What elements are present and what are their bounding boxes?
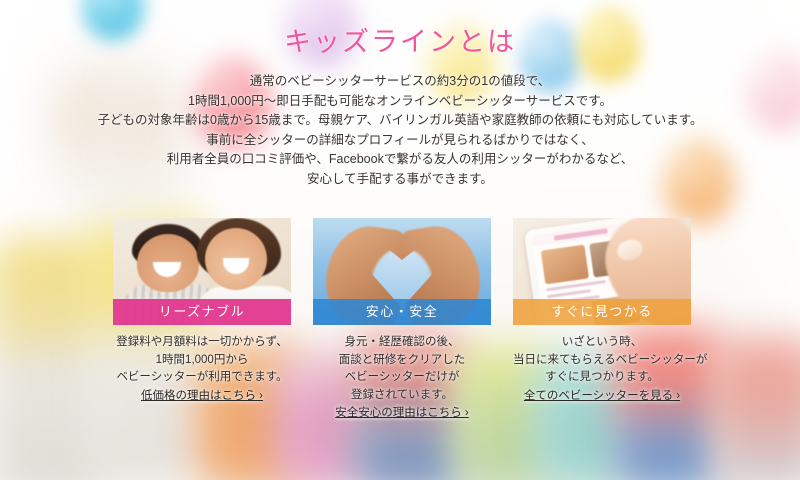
lead-line-2: 1時間1,000円〜即日手配も可能なオンラインベビーシッターサービスです。	[0, 92, 800, 112]
card-body-line: ベビーシッターが利用できます。	[113, 369, 291, 387]
lead-line-1: 通常のベビーシッターサービスの約3分の1の値段で、	[0, 72, 800, 92]
card-link-safety[interactable]: 安全安心の理由はこちら ›	[335, 405, 469, 423]
blurred-child-right	[712, 336, 800, 480]
feature-card-reasonable[interactable]: リーズナブル 登録料や月額料は一切かからず、 1時間1,000円から ベビーシッ…	[113, 218, 291, 423]
lead-line-3: 子どもの対象年齢は0歳から15歳まで。母親ケア、バイリンガル英語や家庭教師の依頼…	[0, 111, 800, 131]
card-body-line: 登録されています。	[313, 387, 491, 405]
card-body-line: 身元・経歴確認の後、	[313, 334, 491, 352]
card-body-find-quickly: いざという時、 当日に来てもらえるベビーシッターが すぐに見つかります。 全ての…	[513, 334, 691, 405]
card-figure-safety[interactable]: 安心・安全	[313, 218, 491, 325]
card-body-line: 当日に来てもらえるベビーシッターが	[513, 352, 691, 370]
card-body-reasonable: 登録料や月額料は一切かからず、 1時間1,000円から ベビーシッターが利用でき…	[113, 334, 291, 405]
page-root: キッズラインとは 通常のベビーシッターサービスの約3分の1の値段で、 1時間1,…	[0, 0, 800, 480]
page-title: キッズラインとは	[0, 20, 800, 59]
card-body-line: いざという時、	[513, 334, 691, 352]
card-body-line: ベビーシッターだけが	[313, 369, 491, 387]
feature-card-find-quickly[interactable]: すぐに見つかる いざという時、 当日に来てもらえるベビーシッターが すぐに見つか…	[513, 218, 691, 423]
card-banner-find-quickly: すぐに見つかる	[513, 299, 691, 325]
lead-line-5: 利用者全員の口コミ評価や、Facebookで繋がる友人の利用シッターがわかるなど…	[0, 150, 800, 170]
card-body-line: 面談と研修をクリアした	[313, 352, 491, 370]
card-body-line: 登録料や月額料は一切かからず、	[113, 334, 291, 352]
card-link-find-quickly[interactable]: 全てのベビーシッターを見る ›	[524, 388, 680, 406]
lead-line-6: 安心して手配する事ができます。	[0, 170, 800, 190]
feature-card-row: リーズナブル 登録料や月額料は一切かからず、 1時間1,000円から ベビーシッ…	[113, 218, 691, 423]
card-link-reasonable[interactable]: 低価格の理由はこちら ›	[141, 388, 263, 406]
card-figure-reasonable[interactable]: リーズナブル	[113, 218, 291, 325]
card-figure-find-quickly[interactable]: すぐに見つかる	[513, 218, 691, 325]
lead-paragraph: 通常のベビーシッターサービスの約3分の1の値段で、 1時間1,000円〜即日手配…	[0, 72, 800, 189]
card-banner-safety: 安心・安全	[313, 299, 491, 325]
lead-line-4: 事前に全シッターの詳細なプロフィールが見られるばかりではなく、	[0, 131, 800, 151]
card-body-line: すぐに見つかります。	[513, 369, 691, 387]
card-body-line: 1時間1,000円から	[113, 352, 291, 370]
card-banner-reasonable: リーズナブル	[113, 299, 291, 325]
feature-card-safety[interactable]: 安心・安全 身元・経歴確認の後、 面談と研修をクリアした ベビーシッターだけが …	[313, 218, 491, 423]
card-body-safety: 身元・経歴確認の後、 面談と研修をクリアした ベビーシッターだけが 登録されてい…	[313, 334, 491, 423]
